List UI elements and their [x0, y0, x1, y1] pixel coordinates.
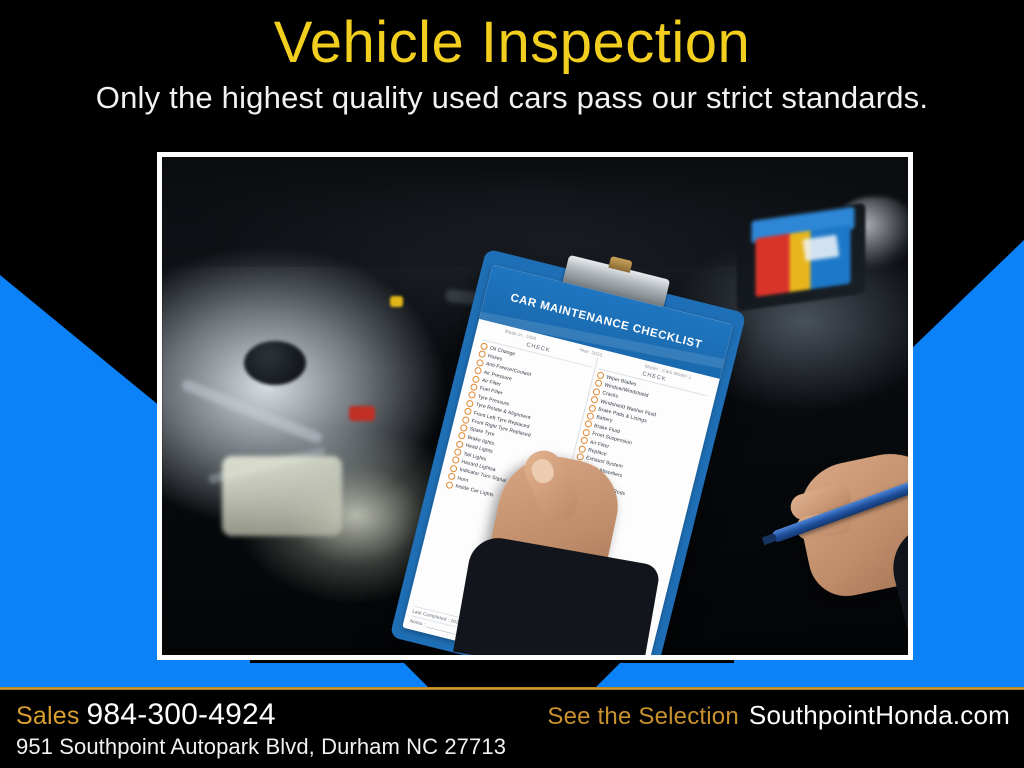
engine-oil-cap-icon: [244, 341, 306, 385]
footer-website-block: See the Selection SouthpointHonda.com: [547, 700, 1010, 731]
checkbox-circle-icon[interactable]: [582, 428, 590, 436]
footer: Sales 984-300-4924 951 Southpoint Autopa…: [0, 690, 1024, 768]
page-subtitle: Only the highest quality used cars pass …: [0, 72, 1024, 115]
checkbox-circle-icon[interactable]: [466, 399, 474, 407]
checkbox-circle-icon[interactable]: [468, 391, 476, 399]
page-title: Vehicle Inspection: [0, 0, 1024, 72]
checkbox-circle-icon[interactable]: [456, 440, 464, 448]
footer-contact-block: Sales 984-300-4924 951 Southpoint Autopa…: [16, 698, 506, 760]
checkbox-circle-icon[interactable]: [464, 407, 472, 415]
checkbox-circle-icon[interactable]: [460, 424, 468, 432]
checkbox-circle-icon[interactable]: [592, 387, 600, 395]
see-the-selection-label: See the Selection: [547, 703, 739, 731]
checkbox-circle-icon[interactable]: [588, 404, 596, 412]
checkbox-circle-icon[interactable]: [580, 436, 588, 444]
website-url[interactable]: SouthpointHonda.com: [749, 700, 1010, 731]
checkbox-circle-icon[interactable]: [474, 367, 482, 375]
car-battery-sticker: [802, 234, 839, 261]
checkbox-circle-icon[interactable]: [476, 358, 484, 366]
checkbox-circle-icon[interactable]: [451, 456, 459, 464]
slide-root: Vehicle Inspection Only the highest qual…: [0, 0, 1024, 768]
dipstick-handle-icon: [390, 296, 403, 307]
checkbox-circle-icon[interactable]: [596, 371, 604, 379]
header: Vehicle Inspection Only the highest qual…: [0, 0, 1024, 140]
checkbox-circle-icon[interactable]: [458, 432, 466, 440]
checkbox-circle-icon[interactable]: [447, 472, 455, 480]
sales-label: Sales: [16, 702, 80, 731]
checkbox-circle-icon[interactable]: [578, 444, 586, 452]
checkbox-circle-icon[interactable]: [462, 415, 470, 423]
coolant-reservoir: [222, 456, 342, 536]
engine-red-cap-icon: [349, 406, 375, 421]
hero-photo: CAR MAINTENANCE CHECKLIST Made in : USA …: [162, 157, 908, 655]
checkbox-circle-icon[interactable]: [453, 448, 461, 456]
sales-phone-number[interactable]: 984-300-4924: [87, 698, 276, 732]
dealership-address: 951 Southpoint Autopark Blvd, Durham NC …: [16, 734, 506, 760]
checkbox-circle-icon[interactable]: [590, 396, 598, 404]
checkbox-circle-icon[interactable]: [586, 412, 594, 420]
checkbox-circle-icon[interactable]: [584, 420, 592, 428]
checkbox-circle-icon[interactable]: [449, 464, 457, 472]
hero-photo-frame: CAR MAINTENANCE CHECKLIST Made in : USA …: [157, 152, 913, 660]
checkbox-circle-icon[interactable]: [594, 379, 602, 387]
checkbox-circle-icon[interactable]: [470, 383, 478, 391]
checkbox-circle-icon[interactable]: [472, 375, 480, 383]
checkbox-circle-icon[interactable]: [480, 342, 488, 350]
checkbox-circle-icon[interactable]: [445, 481, 453, 489]
checkbox-circle-icon[interactable]: [478, 350, 486, 358]
sales-line: Sales 984-300-4924: [16, 698, 506, 732]
